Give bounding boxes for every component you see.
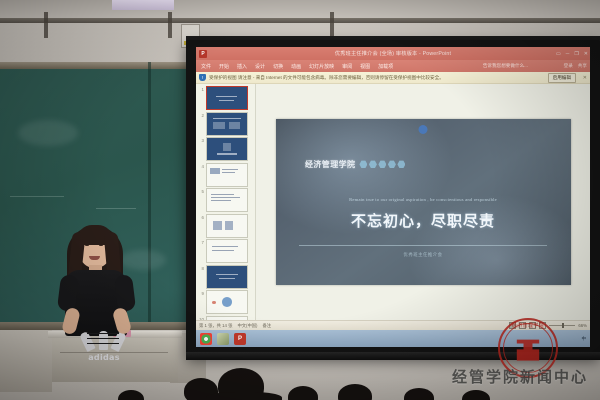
- editor-body: 1 2 3 4: [196, 84, 590, 320]
- chalkboard-divider: [148, 62, 151, 330]
- list-item[interactable]: 8: [198, 265, 253, 289]
- trefoil-icon: [87, 328, 119, 350]
- audience-shoulder: [206, 392, 282, 400]
- tab-addins[interactable]: 加载项: [378, 63, 393, 70]
- slide-number: 9: [198, 290, 204, 297]
- hex-badge-icon: [397, 160, 405, 168]
- list-item[interactable]: 6: [198, 214, 253, 238]
- tab-transitions[interactable]: 切换: [273, 63, 283, 70]
- tab-animations[interactable]: 动画: [291, 63, 301, 70]
- slide-header-group: 经济管理学院: [305, 159, 405, 170]
- slide-number: 6: [198, 214, 204, 221]
- system-tray[interactable]: 中: [582, 336, 587, 342]
- hex-badge-icon: [378, 160, 386, 168]
- rail-bracket: [44, 12, 48, 38]
- list-item[interactable]: 2: [198, 112, 253, 136]
- ceiling-rail: [0, 18, 600, 23]
- notes-button[interactable]: 备注: [263, 323, 272, 329]
- hex-badge-icon: [369, 160, 377, 168]
- protected-view-message: 受保护的视图 请注意 - 来自 Internet 的文件可能包含病毒。除非您需要…: [209, 75, 444, 81]
- protected-view-bar: ! 受保护的视图 请注意 - 来自 Internet 的文件可能包含病毒。除非您…: [196, 72, 590, 84]
- slide-number: 5: [198, 188, 204, 195]
- close-button[interactable]: ✕: [584, 51, 588, 57]
- slide-thumbnail[interactable]: [206, 188, 248, 212]
- list-item[interactable]: 5: [198, 188, 253, 212]
- tab-slideshow[interactable]: 幻灯片放映: [309, 63, 334, 70]
- language-indicator[interactable]: 中文(中国): [237, 323, 257, 329]
- slide-divider: [299, 245, 547, 246]
- tab-insert[interactable]: 插入: [237, 63, 247, 70]
- selection-handle[interactable]: [419, 125, 428, 134]
- slide-number: 2: [198, 112, 204, 119]
- slide-thumbnail[interactable]: [206, 214, 248, 238]
- slide-thumbnail-panel[interactable]: 1 2 3 4: [196, 84, 256, 320]
- screenshot-root: adidas P 优秀班主任推介会 (全场) 审核版本 - PowerPoint…: [0, 0, 600, 400]
- slide-thumbnail[interactable]: [206, 86, 248, 110]
- shirt-brand-text: adidas: [84, 353, 124, 362]
- window-title: 优秀班主任推介会 (全场) 审核版本 - PowerPoint: [196, 50, 590, 57]
- hex-badge-icon: [359, 160, 367, 168]
- slide-background-glow: [408, 194, 570, 285]
- powerpoint-window: P 优秀班主任推介会 (全场) 审核版本 - PowerPoint ▭ ─ ❐ …: [196, 47, 590, 347]
- title-bar: P 优秀班主任推介会 (全场) 审核版本 - PowerPoint ▭ ─ ❐ …: [196, 47, 590, 60]
- powerpoint-icon[interactable]: P: [234, 333, 246, 345]
- shield-icon: !: [199, 74, 206, 81]
- list-item[interactable]: 1: [198, 86, 253, 110]
- slide-thumbnail[interactable]: [206, 239, 248, 263]
- current-slide[interactable]: 经济管理学院 Remain true to our original aspir…: [276, 119, 571, 285]
- share-button[interactable]: 共享: [578, 63, 587, 69]
- slide-header-text: 经济管理学院: [305, 159, 355, 170]
- slide-thumbnail[interactable]: [206, 137, 248, 161]
- slide-footer-text: 优秀班主任推介会: [403, 252, 442, 258]
- slide-number: 7: [198, 239, 204, 246]
- hex-badge-icon: [388, 160, 396, 168]
- tab-file[interactable]: 文件: [201, 63, 211, 70]
- close-icon[interactable]: ✕: [583, 75, 587, 81]
- slide-number: 4: [198, 163, 204, 170]
- slide-canvas-area[interactable]: 经济管理学院 Remain true to our original aspir…: [256, 84, 590, 320]
- slide-thumbnail[interactable]: [206, 265, 248, 289]
- list-item[interactable]: 4: [198, 163, 253, 187]
- slide-thumbnail[interactable]: [206, 290, 248, 314]
- slide-number: 1: [198, 86, 204, 93]
- slide-thumbnail[interactable]: [206, 316, 248, 321]
- slide-thumbnail[interactable]: [206, 163, 248, 187]
- list-item[interactable]: 9: [198, 290, 253, 314]
- presenter: adidas: [58, 222, 136, 340]
- chrome-icon[interactable]: [200, 333, 212, 345]
- seal-arc-text: 经济管理学院: [505, 322, 551, 329]
- side-cabinet: [0, 330, 52, 392]
- slide-thumbnail[interactable]: [206, 112, 248, 136]
- rail-bracket: [168, 12, 172, 38]
- tab-home[interactable]: 开始: [219, 63, 229, 70]
- chalk-mark: [10, 196, 64, 197]
- slide-number: 8: [198, 265, 204, 272]
- list-item[interactable]: 7: [198, 239, 253, 263]
- tab-view[interactable]: 视图: [360, 63, 370, 70]
- zoom-slider-knob[interactable]: [562, 323, 564, 328]
- tab-review[interactable]: 审阅: [342, 63, 352, 70]
- sign-in-button[interactable]: 登录: [564, 63, 573, 69]
- minimize-button[interactable]: ─: [566, 51, 570, 57]
- maximize-button[interactable]: ❐: [574, 51, 578, 57]
- list-item[interactable]: 3: [198, 137, 253, 161]
- slide-number: 10: [198, 316, 204, 321]
- projected-display: P 优秀班主任推介会 (全场) 审核版本 - PowerPoint ▭ ─ ❐ …: [196, 47, 590, 347]
- rail-bracket: [330, 12, 334, 38]
- slide-number: 3: [198, 137, 204, 144]
- ceiling-light: [112, 0, 174, 10]
- sleeve: [114, 274, 136, 312]
- app-icon[interactable]: [217, 333, 229, 345]
- tab-design[interactable]: 设计: [255, 63, 265, 70]
- hex-badge-group: [359, 160, 405, 168]
- chalk-smudge: [18, 120, 78, 146]
- ribbon-display-options-button[interactable]: ▭: [556, 51, 561, 57]
- zoom-level[interactable]: 66%: [578, 323, 587, 328]
- window-buttons[interactable]: ▭ ─ ❐ ✕: [556, 51, 588, 57]
- slide-subtitle-english: Remain true to our original aspiration ,…: [349, 197, 497, 202]
- slide-counter: 第 1 张，共 14 张: [199, 323, 232, 329]
- list-item[interactable]: 10: [198, 316, 253, 321]
- chalk-mark: [96, 208, 136, 209]
- enable-editing-button[interactable]: 启用编辑: [548, 73, 576, 83]
- watermark-text: 经管学院新闻中心: [452, 366, 588, 387]
- tell-me-search[interactable]: 告诉我您想要做什么...: [483, 63, 528, 69]
- slide-headline: 不忘初心，尽职尽责: [351, 210, 495, 231]
- ribbon-tab-bar: 文件 开始 插入 设计 切换 动画 幻灯片放映 审阅 视图 加载项 告诉我您想要…: [196, 60, 590, 72]
